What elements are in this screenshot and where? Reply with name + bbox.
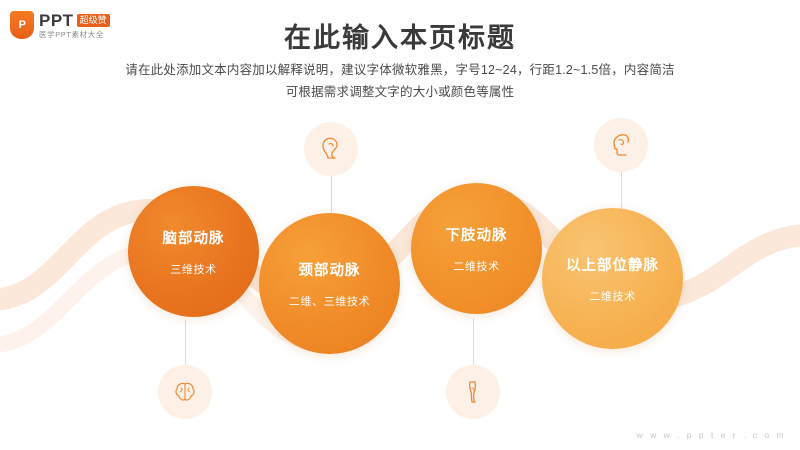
page-title: 在此输入本页标题 <box>0 16 800 55</box>
item-circle-title: 脑部动脉 <box>163 227 225 248</box>
brain-icon <box>170 377 200 407</box>
connector-line-bottom-2 <box>473 318 474 365</box>
item-circle-lower-limb-artery[interactable]: 下肢动脉 二维技术 <box>411 183 542 314</box>
leg-icon <box>458 377 488 407</box>
throat-icon <box>316 134 346 164</box>
throat-icon-bubble <box>304 122 358 176</box>
item-circle-subtitle: 三维技术 <box>170 261 216 277</box>
connector-line-top-1 <box>331 176 332 216</box>
subtitle-line-2: 可根据需求调整文字的大小或颜色等属性 <box>0 82 800 104</box>
connector-line-top-2 <box>621 172 622 212</box>
slide-canvas: P PPT 超级赞 医学PPT素材大全 在此输入本页标题 请在此处添加文本内容加… <box>0 0 800 450</box>
item-circle-title: 颈部动脉 <box>299 259 361 280</box>
item-circle-subtitle: 二维、三维技术 <box>289 293 370 309</box>
item-circle-subtitle: 二维技术 <box>589 288 635 304</box>
item-circle-title: 以上部位静脉 <box>566 254 659 275</box>
item-circle-subtitle: 二维技术 <box>453 258 499 274</box>
connector-line-bottom-1 <box>185 320 186 365</box>
item-circle-brain-artery[interactable]: 脑部动脉 三维技术 <box>128 186 259 317</box>
footer-website: w w w . p p t e r . c o m <box>637 430 786 440</box>
subtitle-line-1: 请在此处添加文本内容加以解释说明，建议字体微软雅黑，字号12~24，行距1.2~… <box>0 60 800 82</box>
brain-icon-bubble <box>158 365 212 419</box>
item-circle-neck-artery[interactable]: 颈部动脉 二维、三维技术 <box>259 213 400 354</box>
page-subtitle: 请在此处添加文本内容加以解释说明，建议字体微软雅黑，字号12~24，行距1.2~… <box>0 60 800 104</box>
head-profile-icon <box>606 130 636 160</box>
item-circle-title: 下肢动脉 <box>446 224 508 245</box>
item-circle-veins[interactable]: 以上部位静脉 二维技术 <box>542 208 683 349</box>
head-profile-icon-bubble <box>594 118 648 172</box>
leg-icon-bubble <box>446 365 500 419</box>
